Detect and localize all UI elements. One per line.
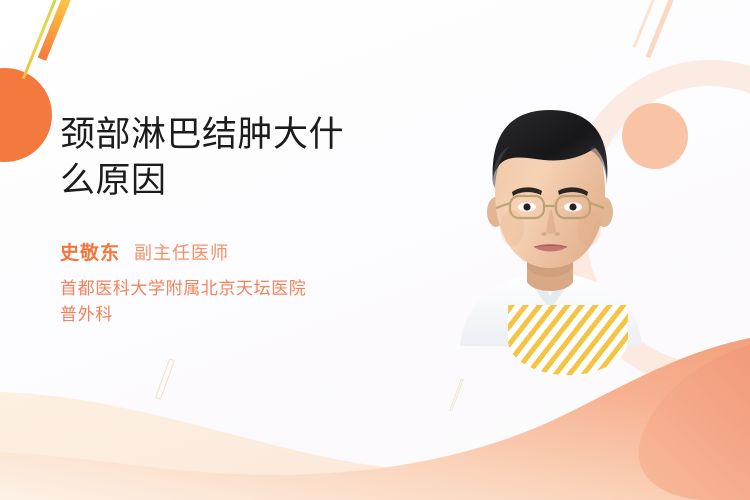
outline-stripe-small-icon <box>449 379 463 412</box>
page-title: 颈部淋巴结肿大什 么原因 <box>60 112 430 204</box>
doctor-rank: 副主任医师 <box>134 243 229 263</box>
doctor-affiliation: 首都医科大学附属北京天坛医院 普外科 <box>60 276 430 328</box>
doctor-name: 史敬东 <box>60 243 120 264</box>
orange-circle-icon <box>0 68 52 162</box>
peach-stripe-thin-icon <box>633 0 662 48</box>
text-block: 颈部淋巴结肿大什 么原因 史敬东副主任医师 首都医科大学附属北京天坛医院 普外科 <box>60 112 430 328</box>
doctor-portrait <box>452 96 648 346</box>
outline-stripe-icon <box>155 358 175 400</box>
yellow-stripe-icon <box>22 0 59 79</box>
doctor-line: 史敬东副主任医师 <box>60 238 430 265</box>
peach-stripe-icon <box>646 0 680 58</box>
orange-stripe-icon <box>38 0 76 61</box>
doctor-cover-card: 颈部淋巴结肿大什 么原因 史敬东副主任医师 首都医科大学附属北京天坛医院 普外科 <box>0 0 750 500</box>
bottom-wave-decoration <box>0 330 750 500</box>
